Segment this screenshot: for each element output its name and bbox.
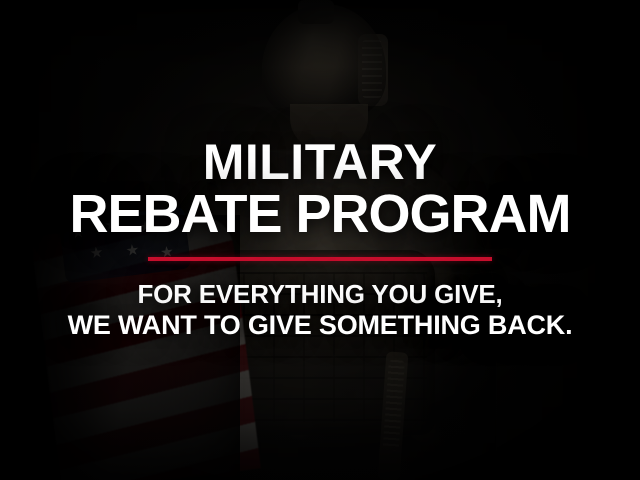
- page-subtitle: FOR EVERYTHING YOU GIVE, WE WANT TO GIVE…: [68, 279, 573, 342]
- subhead-line-1: FOR EVERYTHING YOU GIVE,: [68, 279, 573, 310]
- page-title: MILITARY REBATE PROGRAM: [69, 138, 570, 241]
- text-overlay: MILITARY REBATE PROGRAM FOR EVERYTHING Y…: [0, 0, 640, 480]
- accent-divider: [148, 257, 492, 261]
- headline-line-2: REBATE PROGRAM: [69, 188, 570, 241]
- subhead-line-2: WE WANT TO GIVE SOMETHING BACK.: [68, 310, 573, 342]
- headline-line-1: MILITARY: [69, 138, 570, 187]
- military-rebate-banner: MILITARY REBATE PROGRAM FOR EVERYTHING Y…: [0, 0, 640, 480]
